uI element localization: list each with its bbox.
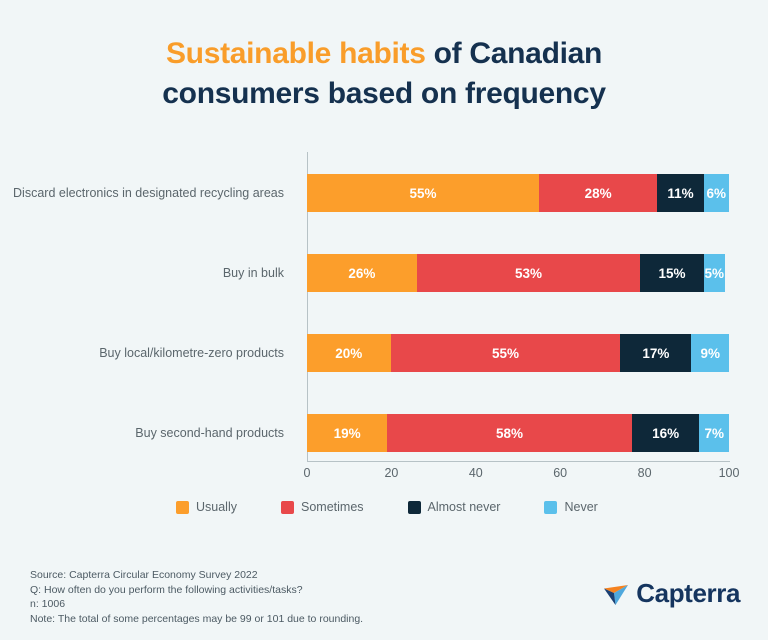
category-label: Buy in bulk bbox=[223, 254, 284, 292]
x-tick-label: 0 bbox=[304, 466, 311, 480]
bar-segment-value: 55% bbox=[492, 346, 519, 361]
bar-segment-value: 28% bbox=[585, 186, 612, 201]
infographic-canvas: Sustainable habits of Canadian consumers… bbox=[0, 0, 768, 640]
bar-segment-usually: 20% bbox=[307, 334, 391, 372]
footer-notes: Source: Capterra Circular Economy Survey… bbox=[30, 568, 450, 626]
bar-segment-value: 15% bbox=[659, 266, 686, 281]
x-tick-label: 20 bbox=[384, 466, 398, 480]
bar-segment-never: 6% bbox=[704, 174, 729, 212]
footer-sample-size: n: 1006 bbox=[30, 597, 450, 612]
bar-segment-usually: 26% bbox=[307, 254, 417, 292]
bar-segment-sometimes: 58% bbox=[387, 414, 632, 452]
bar-segment-almost-never: 17% bbox=[620, 334, 691, 372]
bar-segment-never: 7% bbox=[699, 414, 729, 452]
bar-segment-value: 55% bbox=[410, 186, 437, 201]
footer-question: Q: How often do you perform the followin… bbox=[30, 583, 450, 598]
x-tick-label: 40 bbox=[469, 466, 483, 480]
title-line-1: Sustainable habits of Canadian bbox=[0, 34, 768, 74]
bar-segment-never: 9% bbox=[691, 334, 729, 372]
category-label: Buy local/kilometre-zero products bbox=[99, 334, 284, 372]
bar-segment-value: 5% bbox=[704, 266, 724, 281]
legend-label: Never bbox=[564, 500, 597, 514]
bar-segment-never: 5% bbox=[704, 254, 725, 292]
bar-segment-almost-never: 15% bbox=[640, 254, 703, 292]
title-line-2: consumers based on frequency bbox=[0, 74, 768, 114]
category-label: Discard electronics in designated recycl… bbox=[13, 174, 284, 212]
capterra-mark-icon bbox=[602, 579, 632, 609]
bar-segment-value: 16% bbox=[652, 426, 679, 441]
bar-rows: 55%28%11%6%26%53%15%5%20%55%17%9%19%58%1… bbox=[307, 152, 729, 462]
x-tick-label: 100 bbox=[719, 466, 740, 480]
bar-segment-value: 6% bbox=[707, 186, 727, 201]
title-accent-text: Sustainable habits bbox=[166, 37, 426, 70]
legend-label: Usually bbox=[196, 500, 237, 514]
bar-segment-usually: 19% bbox=[307, 414, 387, 452]
bar-row: 26%53%15%5% bbox=[307, 254, 729, 292]
bar-row: 20%55%17%9% bbox=[307, 334, 729, 372]
x-axis-ticks: 020406080100 bbox=[307, 466, 729, 486]
bar-segment-usually: 55% bbox=[307, 174, 539, 212]
bar-row: 19%58%16%7% bbox=[307, 414, 729, 452]
chart-legend: UsuallySometimesAlmost neverNever bbox=[176, 500, 642, 514]
bar-row: 55%28%11%6% bbox=[307, 174, 729, 212]
bar-segment-value: 11% bbox=[667, 186, 693, 201]
bar-segment-value: 7% bbox=[704, 426, 724, 441]
bar-segment-value: 17% bbox=[642, 346, 669, 361]
stacked-bar-chart: Discard electronics in designated recycl… bbox=[0, 140, 768, 490]
legend-label: Sometimes bbox=[301, 500, 364, 514]
legend-swatch-icon bbox=[176, 501, 189, 514]
bar-segment-value: 9% bbox=[700, 346, 720, 361]
plot-area: 55%28%11%6%26%53%15%5%20%55%17%9%19%58%1… bbox=[307, 152, 729, 462]
legend-label: Almost never bbox=[428, 500, 501, 514]
legend-item-never[interactable]: Never bbox=[544, 500, 597, 514]
bar-segment-value: 53% bbox=[515, 266, 542, 281]
legend-swatch-icon bbox=[408, 501, 421, 514]
legend-item-almost-never[interactable]: Almost never bbox=[408, 500, 501, 514]
capterra-logo: Capterra bbox=[602, 578, 740, 609]
category-axis-labels: Discard electronics in designated recycl… bbox=[0, 152, 298, 462]
legend-item-sometimes[interactable]: Sometimes bbox=[281, 500, 364, 514]
x-tick-label: 80 bbox=[638, 466, 652, 480]
x-tick-label: 60 bbox=[553, 466, 567, 480]
bar-segment-almost-never: 16% bbox=[632, 414, 700, 452]
bar-segment-sometimes: 28% bbox=[539, 174, 657, 212]
bar-segment-sometimes: 53% bbox=[417, 254, 641, 292]
page-title: Sustainable habits of Canadian consumers… bbox=[0, 0, 768, 114]
bar-segment-value: 19% bbox=[334, 426, 361, 441]
bar-segment-value: 26% bbox=[348, 266, 375, 281]
bar-segment-value: 20% bbox=[335, 346, 362, 361]
capterra-wordmark: Capterra bbox=[636, 578, 740, 609]
bar-segment-almost-never: 11% bbox=[657, 174, 703, 212]
category-label: Buy second-hand products bbox=[135, 414, 284, 452]
legend-swatch-icon bbox=[544, 501, 557, 514]
legend-item-usually[interactable]: Usually bbox=[176, 500, 237, 514]
bar-segment-value: 58% bbox=[496, 426, 523, 441]
legend-swatch-icon bbox=[281, 501, 294, 514]
bar-segment-sometimes: 55% bbox=[391, 334, 621, 372]
footer-rounding-note: Note: The total of some percentages may … bbox=[30, 612, 450, 627]
footer-source: Source: Capterra Circular Economy Survey… bbox=[30, 568, 450, 583]
title-rest-text: of Canadian bbox=[426, 37, 602, 70]
